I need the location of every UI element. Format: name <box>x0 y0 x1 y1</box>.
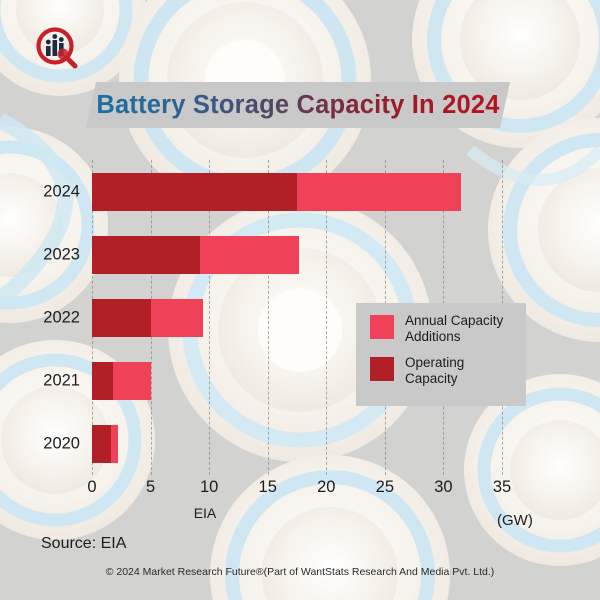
y-axis-label-2024: 2024 <box>43 182 80 201</box>
bar-segment-operating-2022[interactable] <box>92 299 151 337</box>
chart-legend: Annual Capacity Additions Operating Capa… <box>356 303 526 406</box>
bar-segment-operating-2020[interactable] <box>92 425 111 463</box>
legend-label-operating-capacity: Operating Capacity <box>405 355 464 387</box>
legend-label-line2: Capacity <box>405 371 458 386</box>
bar-segment-additions-2024[interactable] <box>297 173 461 211</box>
bar-row-2021[interactable]: 2021 <box>92 362 151 400</box>
y-axis-label-2023: 2023 <box>43 245 80 264</box>
x-axis-ticks: 05101520253035 <box>92 478 502 500</box>
bar-row-2020[interactable]: 2020 <box>92 425 118 463</box>
source-text: Source: EIA <box>41 535 126 553</box>
page-title: Battery Storage Capacity In 2024 <box>96 91 499 120</box>
legend-swatch-operating-capacity <box>370 357 394 381</box>
x-tick-20: 20 <box>317 478 335 497</box>
bar-row-2023[interactable]: 2023 <box>92 236 299 274</box>
x-tick-25: 25 <box>376 478 394 497</box>
legend-label-line2: Additions <box>405 329 461 344</box>
x-tick-15: 15 <box>259 478 277 497</box>
bar-segment-operating-2021[interactable] <box>92 362 113 400</box>
legend-swatch-annual-additions <box>370 315 394 339</box>
x-tick-30: 30 <box>434 478 452 497</box>
y-axis-label-2022: 2022 <box>43 308 80 327</box>
bar-segment-operating-2023[interactable] <box>92 236 200 274</box>
legend-item-annual-capacity-additions[interactable]: Annual Capacity Additions <box>370 313 526 345</box>
y-axis-label-2021: 2021 <box>43 371 80 390</box>
legend-label-line1: Operating <box>405 355 464 370</box>
bar-segment-operating-2024[interactable] <box>92 173 297 211</box>
x-tick-10: 10 <box>200 478 218 497</box>
legend-item-operating-capacity[interactable]: Operating Capacity <box>370 355 526 387</box>
legend-label-annual-additions: Annual Capacity Additions <box>405 313 503 345</box>
bar-row-2022[interactable]: 2022 <box>92 299 203 337</box>
bar-segment-additions-2021[interactable] <box>113 362 150 400</box>
y-axis-label-2020: 2020 <box>43 434 80 453</box>
legend-label-line1: Annual Capacity <box>405 313 503 328</box>
bar-segment-additions-2023[interactable] <box>200 236 300 274</box>
x-tick-5: 5 <box>146 478 155 497</box>
title-banner: Battery Storage Capacity In 2024 <box>86 82 510 128</box>
x-axis-unit: (GW) <box>497 512 533 529</box>
market-research-future-logo-icon <box>33 26 83 70</box>
x-tick-35: 35 <box>493 478 511 497</box>
bar-segment-additions-2020[interactable] <box>111 425 118 463</box>
brand-logo <box>33 26 83 70</box>
x-axis-label: EIA <box>0 505 410 521</box>
bar-segment-additions-2022[interactable] <box>151 299 204 337</box>
copyright-text: © 2024 Market Research Future®(Part of W… <box>0 566 600 578</box>
bar-row-2024[interactable]: 2024 <box>92 173 461 211</box>
x-tick-0: 0 <box>87 478 96 497</box>
